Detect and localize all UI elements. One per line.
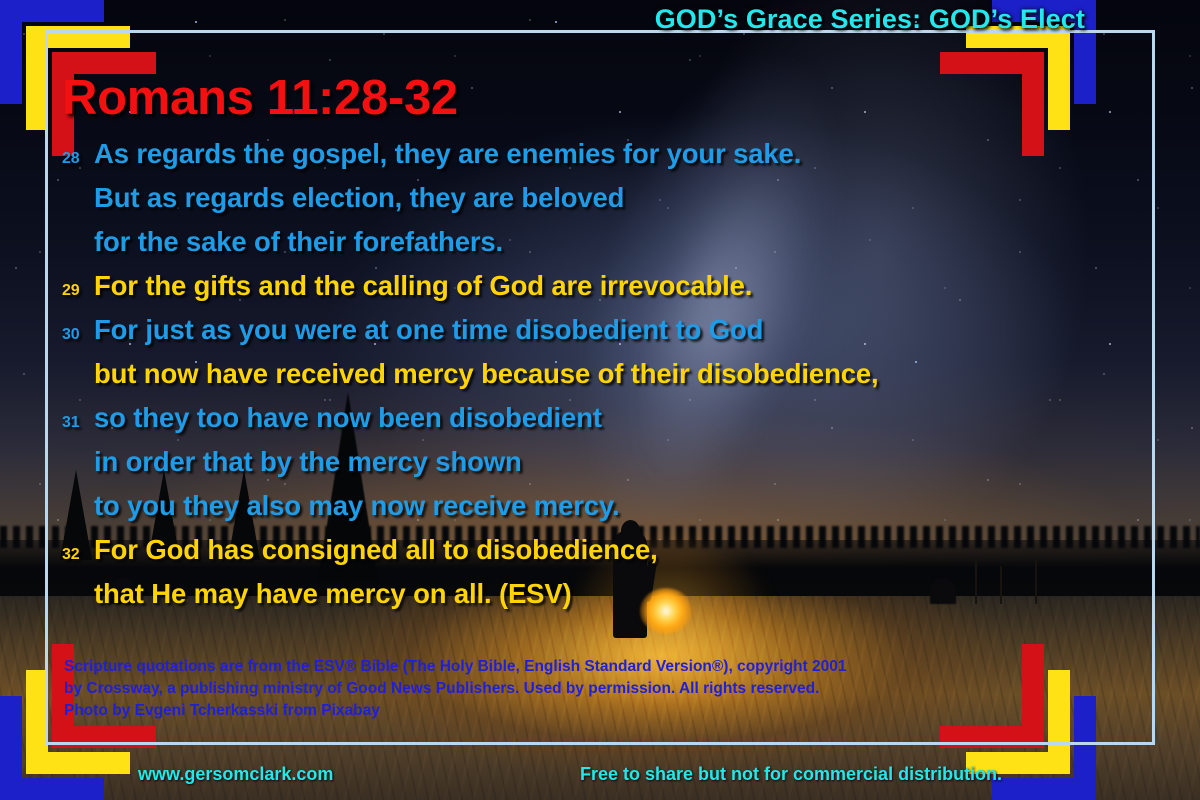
verse-text: For God has consigned all to disobedienc… <box>94 530 658 569</box>
verse-block: 28As regards the gospel, they are enemie… <box>58 134 1138 266</box>
verse-line: 31to you they also may now receive mercy… <box>58 486 1138 530</box>
verse-number: 32 <box>58 535 94 574</box>
verse-text: For the gifts and the calling of God are… <box>94 266 752 305</box>
presentation-slide: GOD’s Grace Series: GOD’s Elect Romans 1… <box>0 0 1200 800</box>
verse-text: for the sake of their forefathers. <box>94 222 503 261</box>
verse-block: 31so they too have now been disobedient3… <box>58 398 1138 530</box>
footer-bar: www.gersomclark.com Free to share but no… <box>0 764 1200 798</box>
verse-number: 31 <box>58 403 94 442</box>
verse-text: For just as you were at one time disobed… <box>94 310 763 349</box>
verse-line: 28But as regards election, they are belo… <box>58 178 1138 222</box>
verse-container: 28As regards the gospel, they are enemie… <box>58 134 1138 618</box>
credit-line-crossway: by Crossway, a publishing ministry of Go… <box>64 678 1084 700</box>
verse-line: 30For just as you were at one time disob… <box>58 310 1138 354</box>
verse-text: but now have received mercy because of t… <box>94 354 879 393</box>
verse-line: 28As regards the gospel, they are enemie… <box>58 134 1138 178</box>
verse-line: 31in order that by the mercy shown <box>58 442 1138 486</box>
verse-block: 30For just as you were at one time disob… <box>58 310 1138 398</box>
website-link[interactable]: www.gersomclark.com <box>138 764 333 785</box>
verse-text: in order that by the mercy shown <box>94 442 522 481</box>
verse-text: to you they also may now receive mercy. <box>94 486 620 525</box>
verse-block: 32For God has consigned all to disobedie… <box>58 530 1138 618</box>
series-header: GOD’s Grace Series: GOD’s Elect <box>0 4 1085 35</box>
verse-line: 30but now have received mercy because of… <box>58 354 1138 398</box>
copyright-credits: Scripture quotations are from the ESV® B… <box>64 656 1084 722</box>
verse-line: 32that He may have mercy on all. (ESV) <box>58 574 1138 618</box>
verse-text: But as regards election, they are belove… <box>94 178 624 217</box>
verse-text: that He may have mercy on all. (ESV) <box>94 574 572 613</box>
verse-text: As regards the gospel, they are enemies … <box>94 134 801 173</box>
credit-line-esv: Scripture quotations are from the ESV® B… <box>64 656 1084 678</box>
verse-number: 29 <box>58 271 94 310</box>
verse-block: 29For the gifts and the calling of God a… <box>58 266 1138 310</box>
verse-text: so they too have now been disobedient <box>94 398 602 437</box>
page-title: Romans 11:28-32 <box>62 70 458 126</box>
verse-line: 28for the sake of their forefathers. <box>58 222 1138 266</box>
verse-line: 29For the gifts and the calling of God a… <box>58 266 1138 310</box>
verse-number: 28 <box>58 139 94 178</box>
verse-line: 31so they too have now been disobedient <box>58 398 1138 442</box>
verse-number: 30 <box>58 315 94 354</box>
verse-line: 32For God has consigned all to disobedie… <box>58 530 1138 574</box>
usage-notice: Free to share but not for commercial dis… <box>580 764 1002 785</box>
credit-line-photo: Photo by Evgeni Tcherkasski from Pixabay <box>64 700 1084 722</box>
